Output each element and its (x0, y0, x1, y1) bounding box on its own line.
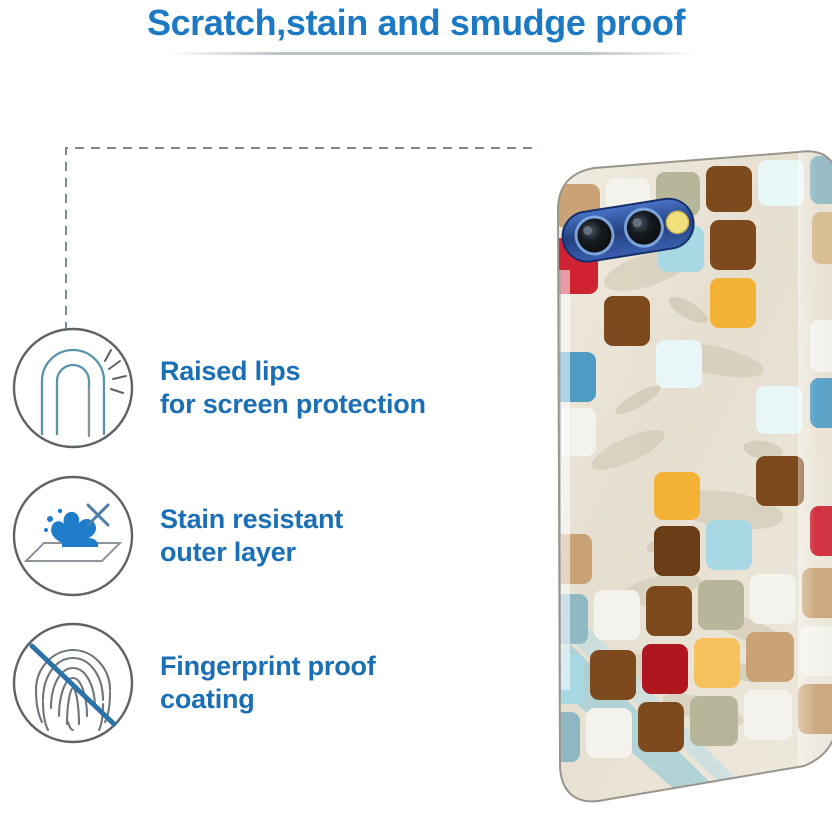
raised-lip-icon (10, 325, 136, 451)
feature-label-fingerprint-proof: Fingerprint proof coating (160, 650, 376, 716)
fingerprint-slash-icon (10, 620, 136, 746)
ink-splash-icon (10, 473, 136, 599)
phone-case-image (498, 150, 832, 810)
feature-label-stain-resistant: Stain resistant outer layer (160, 503, 343, 569)
feature-stain-resistant: Stain resistant outer layer (10, 473, 343, 599)
title-divider (168, 52, 698, 55)
marketing-image: Scratch,stain and smudge proof Raised li… (0, 0, 832, 802)
feature-raised-lips: Raised lips for screen protection (10, 325, 426, 451)
feature-label-raised-lips: Raised lips for screen protection (160, 355, 426, 421)
feature-fingerprint-proof: Fingerprint proof coating (10, 620, 376, 746)
page-title: Scratch,stain and smudge proof (0, 2, 832, 44)
